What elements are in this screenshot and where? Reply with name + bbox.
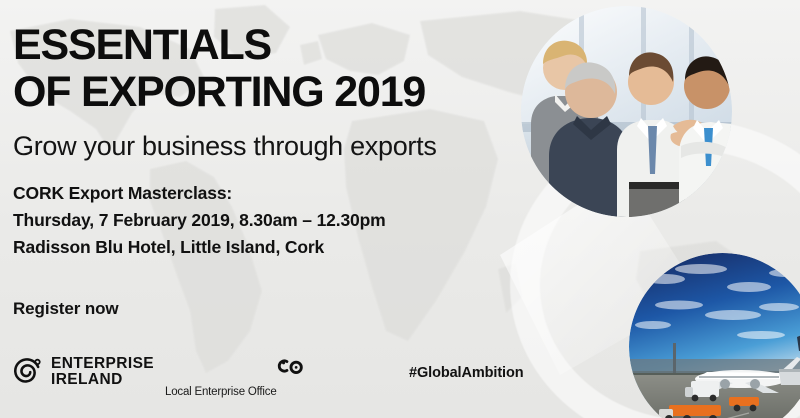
logo-row: ENTERPRISE IRELAND Local Enterprise Offi… (13, 352, 573, 402)
spiral-swirl-icon (13, 357, 43, 387)
register-now-cta[interactable]: Register now (13, 299, 119, 319)
event-detail-line: Radisson Blu Hotel, Little Island, Cork (13, 234, 386, 261)
hashtag: #GlobalAmbition (409, 365, 524, 381)
ei-line-2: IRELAND (51, 372, 154, 388)
leo-wordmark: Local Enterprise Office (165, 386, 277, 398)
event-promo-banner: ESSENTIALS OF EXPORTING 2019 Grow your b… (0, 0, 800, 418)
subheading: Grow your business through exports (13, 130, 437, 162)
event-details: CORK Export Masterclass: Thursday, 7 Feb… (13, 180, 386, 261)
page-title: ESSENTIALS OF EXPORTING 2019 (13, 22, 425, 116)
local-enterprise-office-logo: Local Enterprise Office (165, 358, 305, 398)
event-detail-line: CORK Export Masterclass: (13, 180, 386, 207)
enterprise-ireland-logo: ENTERPRISE IRELAND (13, 356, 154, 387)
enterprise-ireland-wordmark: ENTERPRISE IRELAND (51, 356, 154, 387)
photo-business-people (521, 6, 732, 217)
ei-line-1: ENTERPRISE (51, 356, 154, 372)
leo-circles-icon (275, 356, 305, 376)
event-detail-line: Thursday, 7 February 2019, 8.30am – 12.3… (13, 207, 386, 234)
